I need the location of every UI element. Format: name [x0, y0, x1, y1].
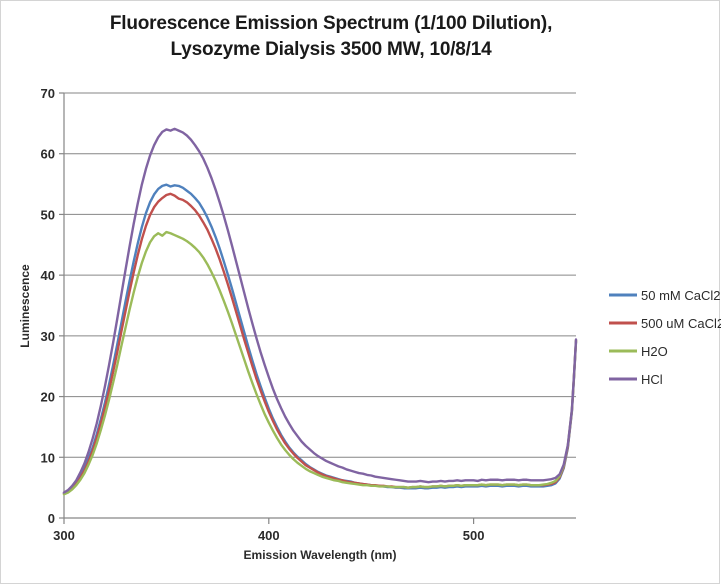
y-tick-labels: 010203040506070	[41, 86, 55, 526]
series-line-500-um-cacl2	[64, 194, 576, 494]
plot-area: 010203040506070 300400500 50 mM CaCl2500…	[1, 1, 721, 585]
legend-label-0: 50 mM CaCl2	[641, 288, 720, 303]
series-line-50-mm-cacl2	[64, 185, 576, 493]
gridlines	[64, 93, 576, 457]
y-axis-title: Luminescence	[18, 264, 32, 348]
chart-container: Fluorescence Emission Spectrum (1/100 Di…	[0, 0, 720, 584]
y-tick-label: 30	[41, 329, 55, 344]
legend-label-1: 500 uM CaCl2	[641, 316, 721, 331]
y-tick-label: 60	[41, 147, 55, 162]
y-tick-label: 40	[41, 268, 55, 283]
series-line-hcl	[64, 129, 576, 493]
y-tick-label: 50	[41, 207, 55, 222]
x-tick-label: 500	[463, 528, 485, 543]
y-tick-label: 10	[41, 450, 55, 465]
y-tick-label: 70	[41, 86, 55, 101]
x-tick-label: 300	[53, 528, 75, 543]
series-line-h2o	[64, 232, 576, 494]
x-tick-labels: 300400500	[53, 528, 484, 543]
legend-label-3: HCl	[641, 372, 663, 387]
legend: 50 mM CaCl2500 uM CaCl2H2OHCl	[609, 288, 721, 387]
y-tick-label: 0	[48, 511, 55, 526]
data-series	[64, 129, 576, 495]
axes	[59, 93, 576, 524]
x-axis-title: Emission Wavelength (nm)	[244, 548, 397, 562]
legend-label-2: H2O	[641, 344, 668, 359]
x-tick-label: 400	[258, 528, 280, 543]
y-tick-label: 20	[41, 390, 55, 405]
